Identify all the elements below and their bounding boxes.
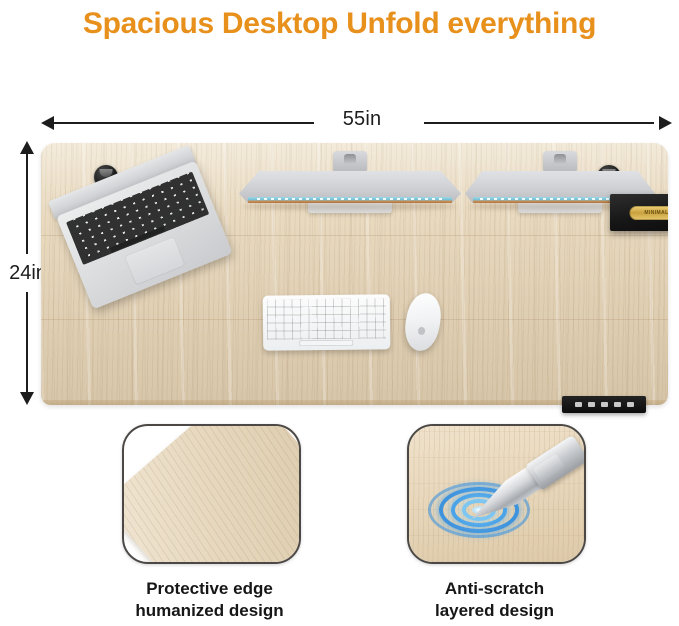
feature-image-frame xyxy=(122,424,301,564)
dimension-line-bottom xyxy=(26,292,28,392)
width-value: 55in xyxy=(314,108,410,131)
dimension-line-right xyxy=(424,122,654,124)
control-button[interactable] xyxy=(627,402,634,407)
dimension-line-top xyxy=(26,150,28,254)
feature-caption-line1: Protective edge xyxy=(122,578,297,600)
monitor-hinge xyxy=(554,154,566,165)
control-button[interactable] xyxy=(614,402,621,407)
feature-caption: Protective edge humanized design xyxy=(122,578,297,622)
control-button[interactable] xyxy=(575,402,582,407)
feature-caption-line1: Anti-scratch xyxy=(407,578,582,600)
control-button[interactable] xyxy=(601,402,608,407)
gold-plate-box: MINIMAL xyxy=(610,194,668,231)
keyboard-keys xyxy=(267,298,386,339)
gold-plate: MINIMAL xyxy=(629,206,668,220)
feature-callouts: Protective edge humanized design xyxy=(0,424,679,626)
feature-protective-edge: Protective edge humanized design xyxy=(122,424,297,622)
depth-dimension: 24in xyxy=(18,142,36,404)
arrow-right-icon xyxy=(659,116,672,130)
desk-surface: MINIMAL xyxy=(41,143,668,405)
dimension-line-left xyxy=(50,122,336,124)
width-dimension: 55in xyxy=(42,114,670,132)
monitor-shadow xyxy=(243,203,456,210)
monitor-hinge xyxy=(344,154,356,165)
feature-caption-line2: humanized design xyxy=(122,600,297,622)
monitor-highlight xyxy=(257,198,443,200)
mouse-logo-icon xyxy=(418,326,426,335)
feature-caption: Anti-scratch layered design xyxy=(407,578,582,622)
arrow-down-icon xyxy=(20,392,34,405)
keyboard xyxy=(263,294,391,350)
feature-caption-line2: layered design xyxy=(407,600,582,622)
marketing-image: Spacious Desktop Unfold everything 55in … xyxy=(0,0,679,626)
control-button[interactable] xyxy=(588,402,595,407)
feature-anti-scratch: Anti-scratch layered design xyxy=(407,424,582,622)
height-control-panel[interactable] xyxy=(562,396,646,413)
desk-edge-side xyxy=(203,504,301,564)
feature-image-frame xyxy=(407,424,586,564)
keyboard-spacebar xyxy=(299,340,353,347)
page-title: Spacious Desktop Unfold everything xyxy=(0,2,679,46)
knife-handle-inlay xyxy=(533,454,565,483)
gold-plate-text: MINIMAL xyxy=(629,206,668,220)
monitor-left xyxy=(239,151,461,215)
